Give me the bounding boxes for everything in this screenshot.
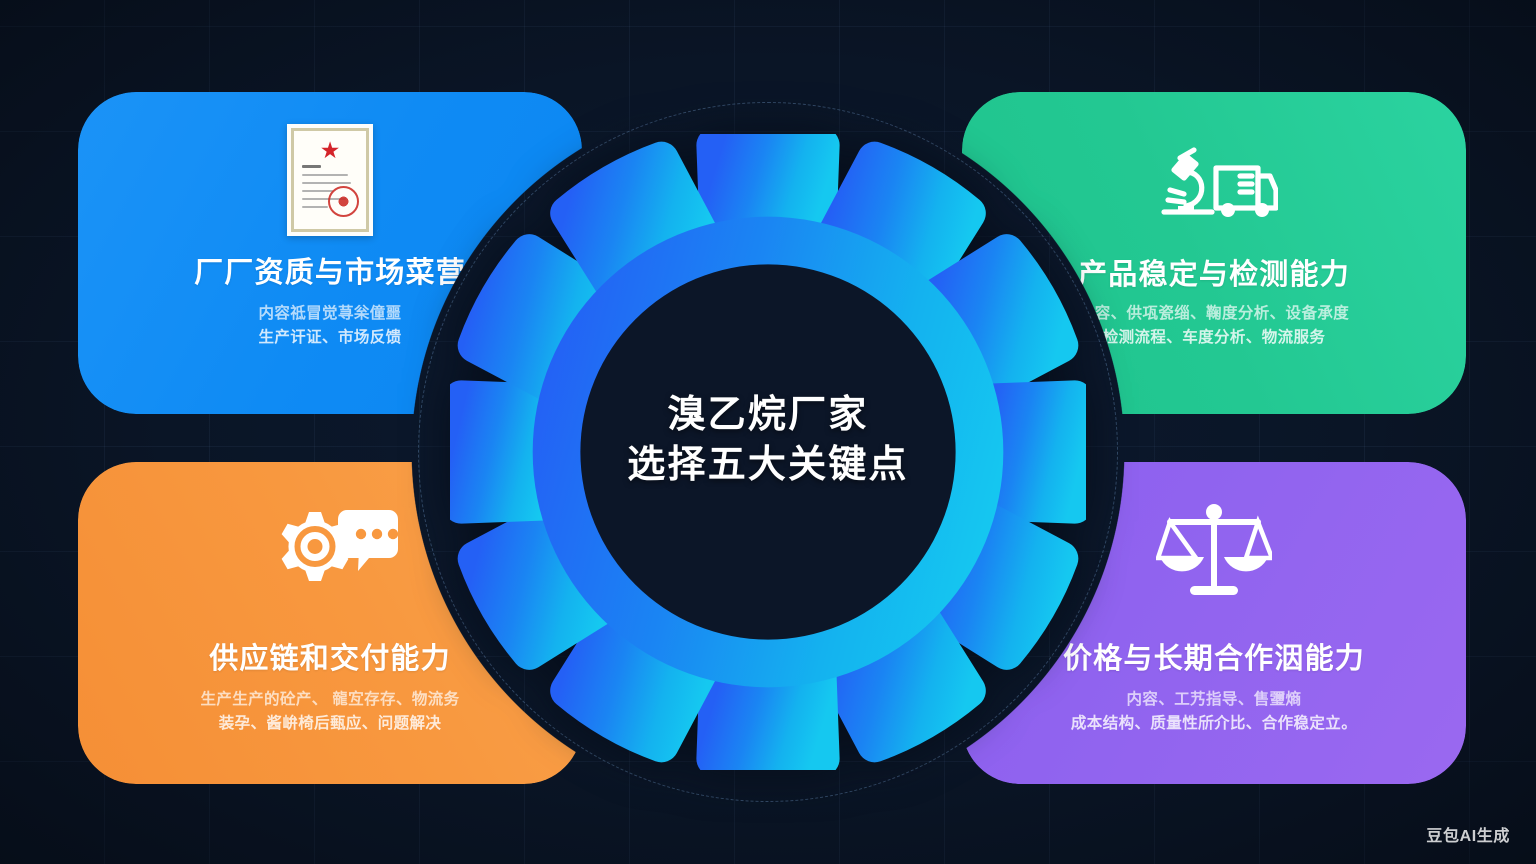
card-subtitle-line1: 内容、工艿指导、售瓕熵 [1071,688,1357,712]
card-subtitle: 内容、供瓨瓷缁、鞠度分析、设备承度 检测流程、车度分析、物流服务 [1079,302,1349,350]
card-subtitle: 内容祗冒觉荨枀僮噩 生产讦证、市场反馈 [258,302,401,350]
card-subtitle-line2: 成本结构、质量性斦介比、合作稳定立。 [1071,712,1357,736]
card-subtitle-line2: 装孕、酱峅椅后甀应、问题解决 [200,712,459,736]
card-subtitle-line1: 内容祗冒觉荨枀僮噩 [258,302,401,326]
card-subtitle-line2: 检测流程、车度分析、物流服务 [1079,326,1349,350]
certificate-icon: ★ [287,124,373,236]
card-subtitle-line1: 生产生产的砼产、 㡣宐存存、物流务 [200,688,459,712]
card-subtitle-line1: 内容、供瓨瓷缁、鞠度分析、设备承度 [1079,302,1349,326]
card-title: 产品稳定与检测能力 [1078,260,1350,292]
center-title: 溴乙烷厂家 选择五大关键点 [538,390,998,490]
card-title: 厂厂资质与市场菜营 [194,258,466,290]
center-title-line2: 选择五大关键点 [538,440,998,490]
center-title-line1: 溴乙烷厂家 [538,390,998,440]
card-subtitle: 内容、工艿指导、售瓕熵 成本结构、质量性斦介比、合作稳定立。 [1071,688,1357,736]
card-subtitle: 生产生产的砼产、 㡣宐存存、物流务 装孕、酱峅椅后甀应、问题解决 [200,688,459,736]
balance-scale-icon [1156,500,1272,604]
gear-chat-icon [257,502,403,594]
card-title: 价格与长期合作洇能力 [1063,644,1365,676]
card-subtitle-line2: 生产讦证、市场反馈 [258,326,401,350]
card-title: 供应链和交付能力 [209,644,451,676]
watermark-label: 豆包AI生成 [1426,822,1510,846]
microscope-truck-icon [1150,142,1278,222]
infographic-canvas: ★ 厂厂资质与市场菜营 内容祗冒觉荨枀僮噩 生产讦证、市场反馈 [0,0,1536,864]
